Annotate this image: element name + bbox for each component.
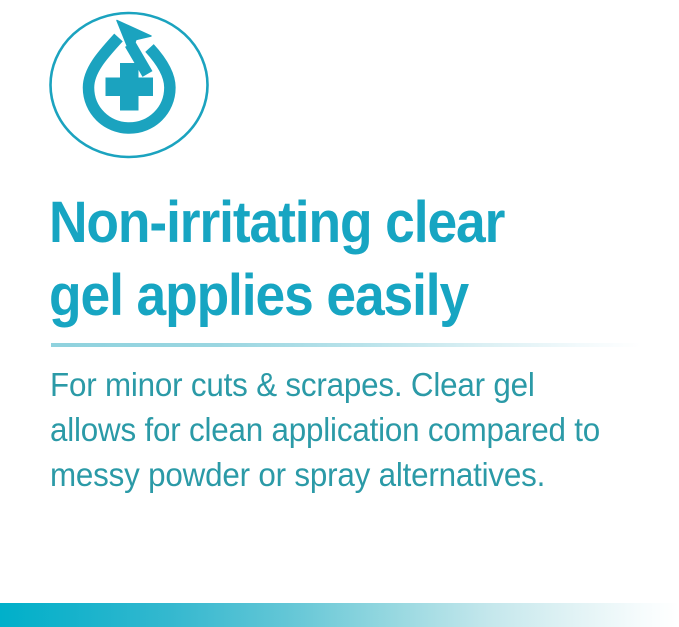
feature-card: Non-irritating clear gel applies easily … [0,0,679,627]
body-line-2: allows for clean application compared to [50,407,630,452]
droplet-cross-arrow-badge [48,11,210,161]
body-description: For minor cuts & scrapes. Clear gel allo… [50,362,660,497]
gradient-rule [51,343,641,347]
headline-line-2: gel applies easily [49,259,601,332]
page-title: Non-irritating clear gel applies easily [49,186,649,332]
body-line-3: messy powder or spray alternatives. [50,452,630,497]
brand-gradient-bar [0,603,679,627]
headline-line-1: Non-irritating clear [49,186,601,259]
body-line-1: For minor cuts & scrapes. Clear gel [50,362,630,407]
droplet-cross-arrow-icon [48,11,210,161]
